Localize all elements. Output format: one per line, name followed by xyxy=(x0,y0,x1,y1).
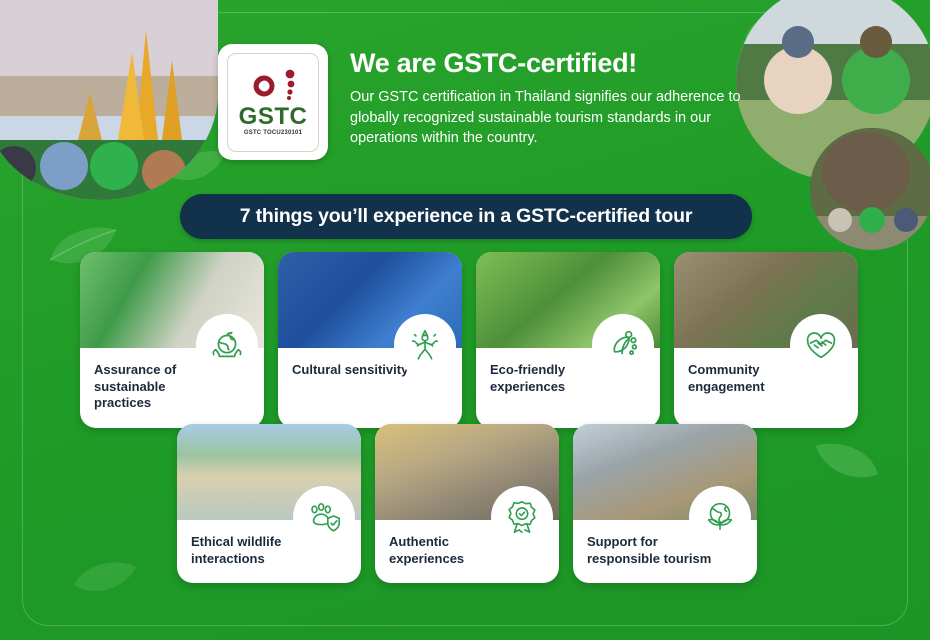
benefit-card[interactable]: Cultural sensitivity xyxy=(278,252,462,428)
card-body: Ethical wildlife interactions xyxy=(177,520,361,583)
card-body: Support for responsible tourism xyxy=(573,520,757,583)
gstc-certification-code: GSTC TOCU230101 xyxy=(244,130,302,136)
header: GSTC GSTC TOCU230101 We are GSTC-certifi… xyxy=(218,44,752,160)
card-body: Assurance of sustainable practices xyxy=(80,348,264,428)
benefit-card-row-1: Assurance of sustainable practices Cultu… xyxy=(80,252,860,428)
photo-visitors-under-tree xyxy=(810,128,930,250)
page-subtitle: Our GSTC certification in Thailand signi… xyxy=(350,87,752,149)
gstc-wordmark: GSTC xyxy=(239,105,308,129)
benefit-card-row-2: Ethical wildlife interactions Authentic … xyxy=(177,424,762,583)
card-label: Ethical wildlife interactions xyxy=(191,534,319,567)
card-body: Cultural sensitivity xyxy=(278,348,462,398)
card-label: Community engagement xyxy=(688,362,816,395)
award-rosette-icon xyxy=(491,486,553,548)
card-body: Eco-friendly experiences xyxy=(476,348,660,411)
benefit-card[interactable]: Community engagement xyxy=(674,252,858,428)
paw-shield-icon xyxy=(293,486,355,548)
benefit-card[interactable]: Ethical wildlife interactions xyxy=(177,424,361,583)
card-body: Community engagement xyxy=(674,348,858,411)
benefit-card[interactable]: Support for responsible tourism xyxy=(573,424,757,583)
header-text: We are GSTC-certified! Our GSTC certific… xyxy=(350,44,752,149)
benefit-card[interactable]: Authentic experiences xyxy=(375,424,559,583)
section-banner-text: 7 things you’ll experience in a GSTC-cer… xyxy=(240,205,692,228)
benefit-card[interactable]: Eco-friendly experiences xyxy=(476,252,660,428)
gstc-logo: GSTC GSTC TOCU230101 xyxy=(218,44,328,160)
card-label: Eco-friendly experiences xyxy=(490,362,618,395)
leaf-footprint-icon xyxy=(592,314,654,376)
card-label: Support for responsible tourism xyxy=(587,534,715,567)
section-banner: 7 things you’ll experience in a GSTC-cer… xyxy=(180,194,752,239)
thai-dancer-icon xyxy=(394,314,456,376)
card-label: Assurance of sustainable practices xyxy=(94,362,222,412)
page-title: We are GSTC-certified! xyxy=(350,48,752,79)
gstc-infinity-icon xyxy=(242,68,304,104)
benefit-card[interactable]: Assurance of sustainable practices xyxy=(80,252,264,428)
globe-leaves-icon xyxy=(689,486,751,548)
card-body: Authentic experiences xyxy=(375,520,559,583)
card-label: Authentic experiences xyxy=(389,534,517,567)
handshake-heart-icon xyxy=(790,314,852,376)
earth-in-hands-icon xyxy=(196,314,258,376)
gstc-logo-inner: GSTC GSTC TOCU230101 xyxy=(227,53,319,152)
